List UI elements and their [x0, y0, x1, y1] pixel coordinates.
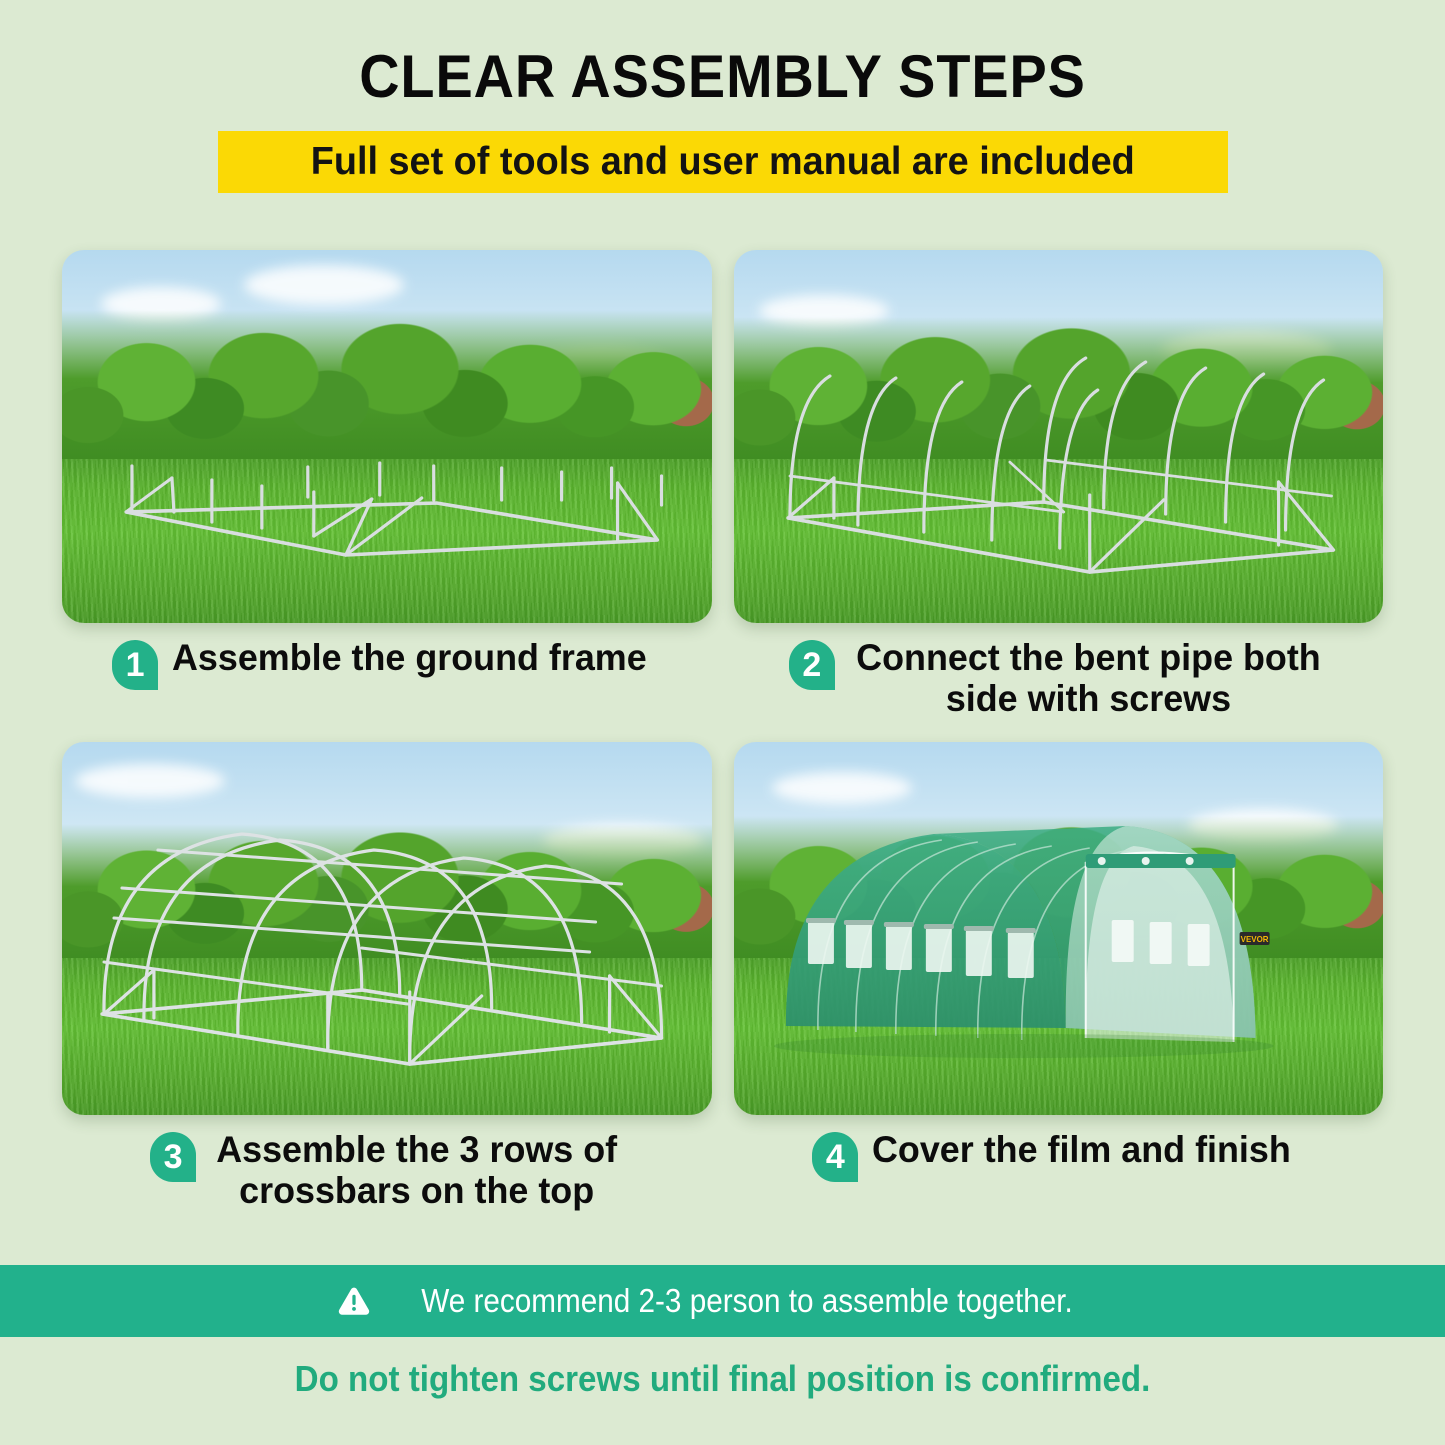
steps-grid: 1 Assemble the ground frame: [62, 250, 1383, 1212]
step-photo-1: [62, 250, 712, 623]
bent-pipe-frame-illustration: [734, 250, 1384, 623]
step-card-4: VEVOR 4 Cover the film and finish: [734, 742, 1384, 1212]
page-title: CLEAR ASSEMBLY STEPS: [51, 42, 1395, 111]
step-photo-2: [734, 250, 1384, 623]
covered-greenhouse-illustration: VEVOR: [734, 742, 1384, 1115]
crossbar-frame-illustration: [62, 742, 712, 1115]
step-caption-4: 4 Cover the film and finish: [734, 1115, 1384, 1182]
step-badge-4: 4: [812, 1132, 858, 1182]
steps-row-1: 1 Assemble the ground frame: [62, 250, 1383, 720]
recommendation-banner: We recommend 2-3 person to assemble toge…: [0, 1265, 1445, 1337]
step-caption-text-1: Assemble the ground frame: [172, 637, 647, 678]
brand-logo-text: VEVOR: [1240, 935, 1268, 944]
subtitle-banner: Full set of tools and user manual are in…: [218, 131, 1228, 193]
step-caption-text-3: Assemble the 3 rows of crossbars on the …: [216, 1129, 617, 1212]
step-caption-3: 3 Assemble the 3 rows of crossbars on th…: [62, 1115, 712, 1212]
step-card-1: 1 Assemble the ground frame: [62, 250, 712, 720]
step-caption-text-4: Cover the film and finish: [872, 1129, 1291, 1170]
step-card-3: 3 Assemble the 3 rows of crossbars on th…: [62, 742, 712, 1212]
subtitle-text: Full set of tools and user manual are in…: [311, 140, 1135, 184]
step-badge-3: 3: [150, 1132, 196, 1182]
recommendation-text: We recommend 2-3 person to assemble toge…: [421, 1282, 1073, 1320]
steps-row-2: 3 Assemble the 3 rows of crossbars on th…: [62, 742, 1383, 1212]
step-photo-4: VEVOR: [734, 742, 1384, 1115]
tip-text: Do not tighten screws until final positi…: [58, 1358, 1387, 1400]
warning-triangle-icon: [337, 1284, 371, 1318]
step-photo-3: [62, 742, 712, 1115]
step-caption-1: 1 Assemble the ground frame: [62, 623, 712, 690]
ground-frame-illustration: [62, 250, 712, 623]
step-badge-1: 1: [112, 640, 158, 690]
step-caption-text-2: Connect the bent pipe both side with scr…: [856, 637, 1321, 720]
step-card-2: 2 Connect the bent pipe both side with s…: [734, 250, 1384, 720]
assembly-steps-page: CLEAR ASSEMBLY STEPS Full set of tools a…: [0, 0, 1445, 1445]
step-badge-2: 2: [789, 640, 835, 690]
step-caption-2: 2 Connect the bent pipe both side with s…: [734, 623, 1384, 720]
